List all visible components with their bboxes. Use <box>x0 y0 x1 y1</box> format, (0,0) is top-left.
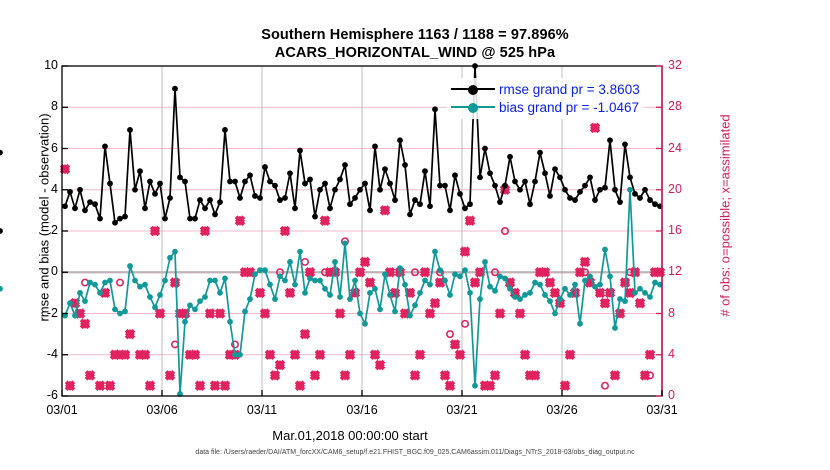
rmse-data-point <box>162 216 168 222</box>
bias-data-point <box>537 282 543 288</box>
bias-data-point <box>297 249 303 255</box>
obs-assimilated-marker <box>460 247 470 257</box>
obs-assimilated-marker <box>375 360 385 370</box>
rmse-data-point <box>342 162 348 168</box>
obs-assimilated-marker <box>365 278 375 288</box>
rmse-data-point <box>562 187 568 193</box>
obs-assimilated-marker <box>200 226 210 236</box>
bias-data-point <box>507 286 513 292</box>
x-axis-tick-label: 03/26 <box>532 403 592 417</box>
data-file-footer: data file: /Users/raeder/DAI/ATM_forcXX/… <box>0 449 830 456</box>
bias-data-point <box>462 267 468 273</box>
obs-assimilated-marker <box>320 216 330 226</box>
obs-assimilated-marker <box>140 350 150 360</box>
obs-assimilated-marker <box>345 350 355 360</box>
obs-assimilated-marker <box>440 370 450 380</box>
rmse-data-point <box>362 181 368 187</box>
rmse-data-point <box>77 187 83 193</box>
bias-data-point <box>162 278 168 284</box>
rmse-data-point <box>227 179 233 185</box>
rmse-data-point <box>537 150 543 156</box>
rmse-data-point <box>647 197 653 203</box>
bias-data-point <box>627 187 633 193</box>
bias-data-point <box>182 319 188 325</box>
bias-data-point <box>82 298 88 304</box>
bias-data-point <box>122 309 128 315</box>
obs-assimilated-marker <box>255 288 265 298</box>
rmse-data-point <box>417 201 423 207</box>
obs-assimilated-marker <box>270 370 280 380</box>
rmse-data-point <box>127 127 133 133</box>
bias-data-point <box>77 290 83 296</box>
rmse-data-point <box>0 150 3 156</box>
bias-data-point <box>562 286 568 292</box>
legend-swatch-rmse-icon <box>451 82 495 96</box>
bias-data-point <box>67 300 73 306</box>
rmse-data-point <box>637 195 643 201</box>
bias-data-point <box>222 276 228 282</box>
rmse-data-point <box>487 170 493 176</box>
obs-assimilated-marker <box>205 309 215 319</box>
obs-assimilated-marker <box>210 381 220 391</box>
rmse-data-point <box>137 168 143 174</box>
rmse-data-point <box>217 199 223 205</box>
rmse-data-point <box>297 148 303 154</box>
rmse-data-point <box>327 205 333 211</box>
rmse-data-point <box>467 201 473 207</box>
bias-data-point <box>527 290 533 296</box>
rmse-data-point <box>592 197 598 203</box>
rmse-data-point <box>407 212 413 218</box>
bias-data-point <box>137 284 143 290</box>
rmse-data-point <box>387 181 393 187</box>
bias-data-point <box>437 267 443 273</box>
rmse-data-point <box>167 195 173 201</box>
obs-assimilated-marker <box>515 309 525 319</box>
rmse-data-point <box>62 203 68 209</box>
bias-data-point <box>497 273 503 279</box>
bias-data-point <box>267 282 273 288</box>
rmse-data-point <box>262 164 268 170</box>
rmse-data-point <box>512 179 518 185</box>
obs-assimilated-marker <box>580 257 590 267</box>
rmse-data-point <box>527 201 533 207</box>
rmse-data-point <box>442 183 448 189</box>
rmse-data-point <box>97 216 103 222</box>
rmse-data-point <box>547 193 553 199</box>
rmse-data-point <box>242 179 248 185</box>
bias-data-point <box>387 292 393 298</box>
obs-assimilated-marker <box>380 205 390 215</box>
y-axis-left-tick-label: 6 <box>12 141 58 155</box>
bias-data-point <box>482 259 488 265</box>
rmse-data-point <box>597 187 603 193</box>
rmse-data-point <box>182 179 188 185</box>
bias-data-point <box>642 290 648 296</box>
obs-assimilated-marker <box>285 288 295 298</box>
bias-data-point <box>212 278 218 284</box>
rmse-data-point <box>122 214 128 220</box>
obs-possible-marker <box>172 341 178 347</box>
rmse-data-point <box>582 183 588 189</box>
bias-data-point <box>587 273 593 279</box>
obs-assimilated-marker <box>295 381 305 391</box>
rmse-data-point <box>412 197 418 203</box>
rmse-data-point <box>252 193 258 199</box>
bias-data-point <box>347 296 353 302</box>
rmse-data-point <box>107 181 113 187</box>
rmse-data-point <box>377 187 383 193</box>
y-axis-right-tick-label: 4 <box>668 347 714 361</box>
rmse-data-point <box>392 197 398 203</box>
bias-data-point <box>277 273 283 279</box>
bias-data-point <box>307 276 313 282</box>
obs-assimilated-marker <box>215 309 225 319</box>
obs-assimilated-marker <box>300 329 310 339</box>
obs-assimilated-marker <box>465 216 475 226</box>
obs-assimilated-marker <box>145 381 155 391</box>
bias-data-point <box>232 352 238 358</box>
rmse-data-point <box>72 205 78 211</box>
bias-data-point <box>532 280 538 286</box>
rmse-data-point <box>102 144 108 150</box>
obs-assimilated-marker <box>195 381 205 391</box>
rmse-data-point <box>157 181 163 187</box>
y-axis-left-tick-label: 10 <box>12 58 58 72</box>
rmse-data-point <box>202 205 208 211</box>
rmse-data-point <box>152 191 158 197</box>
obs-assimilated-marker <box>590 123 600 133</box>
bias-data-point <box>637 286 643 292</box>
obs-assimilated-marker <box>265 350 275 360</box>
obs-assimilated-marker <box>455 350 465 360</box>
bias-data-point <box>257 267 263 273</box>
x-axis-tick-label: 03/01 <box>32 403 92 417</box>
bias-data-point <box>187 302 193 308</box>
obs-assimilated-marker <box>410 370 420 380</box>
rmse-data-point <box>267 179 273 185</box>
rmse-data-point <box>312 214 318 220</box>
rmse-data-point <box>177 174 183 180</box>
rmse-data-point <box>307 177 313 183</box>
bias-data-point <box>447 292 453 298</box>
obs-assimilated-marker <box>420 267 430 277</box>
rmse-data-point <box>322 181 328 187</box>
bias-data-point <box>372 286 378 292</box>
obs-assimilated-marker <box>125 329 135 339</box>
rmse-data-point <box>447 207 453 213</box>
obs-assimilated-marker <box>540 267 550 277</box>
obs-assimilated-marker <box>95 381 105 391</box>
bias-data-point <box>517 296 523 302</box>
rmse-data-point <box>532 179 538 185</box>
bias-data-point <box>322 286 328 292</box>
rmse-data-point <box>82 207 88 213</box>
y-axis-right-tick-label: 20 <box>668 182 714 196</box>
obs-assimilated-marker <box>450 339 460 349</box>
x-axis-tick-label: 03/06 <box>132 403 192 417</box>
obs-assimilated-marker <box>65 381 75 391</box>
bias-data-point <box>292 282 298 288</box>
rmse-data-point <box>607 137 613 143</box>
obs-assimilated-marker <box>485 381 495 391</box>
rmse-data-point <box>632 191 638 197</box>
bias-data-point <box>287 259 293 265</box>
bias-data-point <box>477 296 483 302</box>
bias-data-point <box>472 383 478 389</box>
bias-data-point <box>127 263 133 269</box>
bias-data-point <box>572 282 578 288</box>
y-axis-right-tick-label: 8 <box>668 306 714 320</box>
obs-assimilated-marker <box>415 350 425 360</box>
obs-assimilated-marker <box>105 381 115 391</box>
bias-data-point <box>412 302 418 308</box>
bias-data-point <box>202 294 208 300</box>
y-axis-left-tick-label: 2 <box>12 223 58 237</box>
bias-data-point <box>377 306 383 312</box>
bias-data-point <box>342 240 348 246</box>
bias-data-point <box>407 313 413 319</box>
obs-assimilated-marker <box>120 350 130 360</box>
bias-data-point <box>452 271 458 277</box>
rmse-data-point <box>302 181 308 187</box>
obs-assimilated-marker <box>520 350 530 360</box>
bias-data-point <box>197 298 203 304</box>
legend-label: rmse grand pr = 3.8603 <box>499 81 640 98</box>
y-axis-left-tick-label: 0 <box>12 264 58 278</box>
rmse-data-point <box>292 205 298 211</box>
obs-assimilated-marker <box>170 278 180 288</box>
obs-assimilated-marker <box>595 288 605 298</box>
bias-data-point <box>97 290 103 296</box>
obs-possible-marker <box>117 279 123 285</box>
bias-data-point <box>427 282 433 288</box>
obs-assimilated-marker <box>165 370 175 380</box>
bias-data-point <box>207 278 213 284</box>
obs-assimilated-marker <box>275 360 285 370</box>
y-axis-left-tick-label: 8 <box>12 99 58 113</box>
rmse-data-point <box>402 162 408 168</box>
rmse-data-point <box>87 199 93 205</box>
bias-data-point <box>602 247 608 253</box>
rmse-data-point <box>272 183 278 189</box>
bias-data-point <box>457 273 463 279</box>
obs-possible-marker <box>447 331 453 337</box>
obs-assimilated-marker <box>470 278 480 288</box>
bias-data-point <box>367 290 373 296</box>
bias-data-point <box>397 265 403 271</box>
obs-assimilated-marker <box>260 309 270 319</box>
legend-item-bias[interactable]: bias grand pr = -1.0467 <box>451 98 640 116</box>
obs-assimilated-marker <box>280 226 290 236</box>
rmse-data-point <box>522 179 528 185</box>
bias-data-point <box>217 290 223 296</box>
bias-data-point <box>402 282 408 288</box>
rmse-data-point <box>617 199 623 205</box>
rmse-data-point <box>357 187 363 193</box>
bias-data-point <box>282 278 288 284</box>
rmse-data-point <box>572 197 578 203</box>
rmse-data-point <box>352 195 358 201</box>
bias-data-point <box>117 311 123 317</box>
rmse-data-point <box>257 195 263 201</box>
bias-data-point <box>167 255 173 261</box>
rmse-data-point <box>517 187 523 193</box>
rmse-data-point <box>207 197 213 203</box>
rmse-data-point <box>642 187 648 193</box>
rmse-data-point <box>132 187 138 193</box>
bias-data-point <box>382 271 388 277</box>
bias-data-point <box>352 278 358 284</box>
rmse-data-point <box>187 216 193 222</box>
obs-possible-marker <box>302 259 308 265</box>
obs-assimilated-marker <box>190 350 200 360</box>
bias-data-point <box>362 321 368 327</box>
x-axis-tick-label: 03/11 <box>232 403 292 417</box>
bias-data-point <box>392 309 398 315</box>
rmse-data-point <box>277 197 283 203</box>
obs-assimilated-marker <box>310 370 320 380</box>
obs-possible-marker <box>462 321 468 327</box>
obs-assimilated-marker <box>290 350 300 360</box>
bias-data-point <box>632 290 638 296</box>
x-axis-tick-label: 03/31 <box>632 403 692 417</box>
bias-data-point <box>0 286 3 292</box>
bias-data-point <box>247 296 253 302</box>
rmse-data-point <box>587 174 593 180</box>
bias-data-point <box>87 280 93 286</box>
rmse-data-point <box>382 166 388 172</box>
rmse-data-point <box>422 168 428 174</box>
obs-assimilated-marker <box>645 350 655 360</box>
rmse-data-point <box>282 195 288 201</box>
rmse-data-point <box>577 189 583 195</box>
bias-data-point <box>242 309 248 315</box>
rmse-data-point <box>332 187 338 193</box>
y-axis-right-tick-label: 16 <box>668 223 714 237</box>
bias-data-point <box>652 280 658 286</box>
obs-assimilated-marker <box>445 381 455 391</box>
rmse-data-point <box>172 86 178 92</box>
rmse-data-point <box>237 195 243 201</box>
rmse-data-point <box>452 172 458 178</box>
y-axis-left-tick-label: -6 <box>12 388 58 402</box>
bias-data-point <box>142 282 148 288</box>
bias-data-point <box>192 306 198 312</box>
bias-data-point <box>607 273 613 279</box>
bias-data-point <box>597 282 603 288</box>
rmse-data-point <box>222 127 228 133</box>
legend-item-rmse[interactable]: rmse grand pr = 3.8603 <box>451 80 640 98</box>
obs-assimilated-marker <box>150 226 160 236</box>
bias-data-point <box>502 276 508 282</box>
obs-assimilated-marker <box>80 319 90 329</box>
bias-data-point <box>92 282 98 288</box>
bias-data-point <box>312 278 318 284</box>
rmse-data-point <box>112 220 118 226</box>
obs-assimilated-marker <box>565 350 575 360</box>
obs-assimilated-marker <box>220 381 230 391</box>
y-axis-right-tick-label: 28 <box>668 99 714 113</box>
bias-data-point <box>467 290 473 296</box>
bias-data-point <box>487 284 493 290</box>
bias-data-point <box>547 298 553 304</box>
bias-data-point <box>112 306 118 312</box>
bias-data-point <box>512 294 518 300</box>
rmse-data-point <box>0 228 3 234</box>
bias-data-point <box>622 298 628 304</box>
y-axis-right-tick-label: 32 <box>668 58 714 72</box>
y-axis-left-tick-label: -4 <box>12 347 58 361</box>
obs-assimilated-marker <box>235 216 245 226</box>
obs-assimilated-marker <box>560 381 570 391</box>
rmse-data-point <box>212 212 218 218</box>
bias-data-point <box>252 271 258 277</box>
y-axis-right-tick-label: 12 <box>668 264 714 278</box>
y-axis-left-tick-label: -2 <box>12 306 58 320</box>
obs-assimilated-marker <box>605 288 615 298</box>
y-axis-right-tick-label: 0 <box>668 388 714 402</box>
rmse-data-point <box>437 183 443 189</box>
obs-assimilated-marker <box>490 370 500 380</box>
rmse-data-point <box>432 106 438 112</box>
rmse-data-point <box>557 174 563 180</box>
rmse-data-point <box>427 203 433 209</box>
rmse-data-point <box>397 137 403 143</box>
rmse-data-point <box>652 201 658 207</box>
rmse-data-point <box>497 199 503 205</box>
obs-assimilated-marker <box>340 370 350 380</box>
bias-data-point <box>157 292 163 298</box>
rmse-data-point <box>317 187 323 193</box>
rmse-data-point <box>117 216 123 222</box>
obs-assimilated-marker <box>355 267 365 277</box>
bias-data-point <box>147 294 153 300</box>
rmse-data-point <box>477 174 483 180</box>
obs-assimilated-marker <box>635 298 645 308</box>
bias-data-point <box>72 313 78 319</box>
obs-assimilated-marker <box>360 257 370 267</box>
bias-data-point <box>102 280 108 286</box>
rmse-data-point <box>502 183 508 189</box>
obs-assimilated-marker <box>315 350 325 360</box>
bias-data-point <box>107 278 113 284</box>
bias-data-point <box>172 249 178 255</box>
bias-data-point <box>577 321 583 327</box>
rmse-data-point <box>367 207 373 213</box>
rmse-data-point <box>622 141 628 147</box>
bias-data-point <box>357 311 363 317</box>
rmse-data-point <box>492 183 498 189</box>
obs-assimilated-marker <box>550 288 560 298</box>
obs-assimilated-marker <box>335 309 345 319</box>
bias-data-point <box>272 296 278 302</box>
obs-assimilated-marker <box>370 350 380 360</box>
rmse-data-point <box>337 177 343 183</box>
bias-data-point <box>317 278 323 284</box>
chart-legend: rmse grand pr = 3.8603bias grand pr = -1… <box>447 78 644 119</box>
bias-data-point <box>442 278 448 284</box>
x-axis-tick-label: 03/16 <box>332 403 392 417</box>
obs-assimilated-marker <box>425 309 435 319</box>
obs-assimilated-marker <box>85 370 95 380</box>
bias-data-point <box>567 292 573 298</box>
rmse-data-point <box>552 166 558 172</box>
bias-data-point <box>422 278 428 284</box>
bias-data-point <box>617 296 623 302</box>
rmse-data-point <box>147 179 153 185</box>
rmse-data-point <box>372 144 378 150</box>
